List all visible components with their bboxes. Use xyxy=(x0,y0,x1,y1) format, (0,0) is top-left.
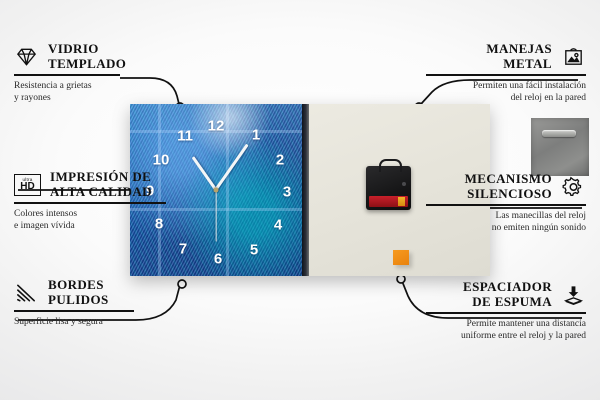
callout-header: VIDRIO TEMPLADO xyxy=(14,42,174,71)
callout-rule xyxy=(14,202,166,204)
callout-header: MANEJAS METAL xyxy=(426,42,586,71)
clock-numeral-12: 12 xyxy=(208,119,225,134)
gear-icon xyxy=(561,176,586,198)
diamond-icon xyxy=(14,46,39,68)
clock-numeral-10: 10 xyxy=(153,153,170,168)
callout-rule xyxy=(426,312,586,314)
foam-spacer-icon xyxy=(561,284,586,306)
callout-espaciador-espuma: ESPACIADOR DE ESPUMA Permite mantener un… xyxy=(426,280,586,342)
mechanism-knob xyxy=(402,182,406,186)
ultra-hd-icon: ultra HD xyxy=(14,174,41,196)
infographic-canvas: 12 1 2 3 4 5 6 7 8 9 10 11 xyxy=(0,0,600,400)
callout-rule xyxy=(426,74,586,76)
picture-frame-icon xyxy=(561,46,586,68)
clock-second-hand xyxy=(215,190,216,242)
callout-title: BORDES PULIDOS xyxy=(48,278,109,307)
clock-center-pin xyxy=(214,188,219,193)
hanger-slot xyxy=(542,130,576,137)
callout-subtitle: Permite mantener una distancia uniforme … xyxy=(426,318,586,342)
anchor-dot-bordes xyxy=(178,280,186,288)
callout-subtitle: Las manecillas del reloj no emiten ningú… xyxy=(426,210,586,234)
metal-hanger-plate xyxy=(531,118,589,176)
callout-title: ESPACIADOR DE ESPUMA xyxy=(463,280,552,309)
anchor-dot-espaciador xyxy=(397,275,405,283)
clock-numeral-6: 6 xyxy=(214,252,222,267)
clock-edge-seam xyxy=(302,104,309,276)
callout-title: MECANISMO SILENCIOSO xyxy=(465,172,552,201)
mechanism-hook xyxy=(379,159,402,172)
beveled-edge-icon xyxy=(14,282,39,304)
callout-bordes-pulidos: BORDES PULIDOS Superficie lisa y segura xyxy=(14,278,174,328)
callout-subtitle: Resistencia a grietas y rayones xyxy=(14,80,174,104)
callout-rule xyxy=(426,204,586,206)
callout-subtitle: Superficie lisa y segura xyxy=(14,316,174,328)
battery-strip xyxy=(369,196,408,207)
callout-rule xyxy=(14,310,134,312)
callout-subtitle: Colores intensos e imagen vívida xyxy=(14,208,184,232)
callout-header: ultra HD IMPRESIÓN DE ALTA CALIDAD xyxy=(14,170,184,199)
callout-impresion-alta-calidad: ultra HD IMPRESIÓN DE ALTA CALIDAD Color… xyxy=(14,170,184,232)
callout-title: VIDRIO TEMPLADO xyxy=(48,42,126,71)
callout-title: IMPRESIÓN DE ALTA CALIDAD xyxy=(50,170,152,199)
clock-numeral-11: 11 xyxy=(177,129,193,144)
clock-numeral-4: 4 xyxy=(274,218,282,233)
callout-header: BORDES PULIDOS xyxy=(14,278,174,307)
clock-numeral-3: 3 xyxy=(283,185,291,200)
foam-spacer xyxy=(393,250,409,265)
ultra-hd-icon-main: HD xyxy=(20,182,34,192)
clock-numeral-2: 2 xyxy=(276,153,284,168)
clock-numeral-7: 7 xyxy=(179,242,187,257)
callout-vidrio-templado: VIDRIO TEMPLADO Resistencia a grietas y … xyxy=(14,42,174,104)
callout-mecanismo-silencioso: MECANISMO SILENCIOSO Las manecillas del … xyxy=(426,172,586,234)
callout-title: MANEJAS METAL xyxy=(486,42,552,71)
callout-manejas-metal: MANEJAS METAL Permiten una fácil instala… xyxy=(426,42,586,104)
clock-mechanism xyxy=(366,166,411,210)
callout-subtitle: Permiten una fácil instalación del reloj… xyxy=(426,80,586,104)
callout-header: ESPACIADOR DE ESPUMA xyxy=(426,280,586,309)
clock-numeral-1: 1 xyxy=(252,128,260,143)
callout-rule xyxy=(14,74,120,76)
callout-header: MECANISMO SILENCIOSO xyxy=(426,172,586,201)
clock-numeral-5: 5 xyxy=(250,243,258,258)
